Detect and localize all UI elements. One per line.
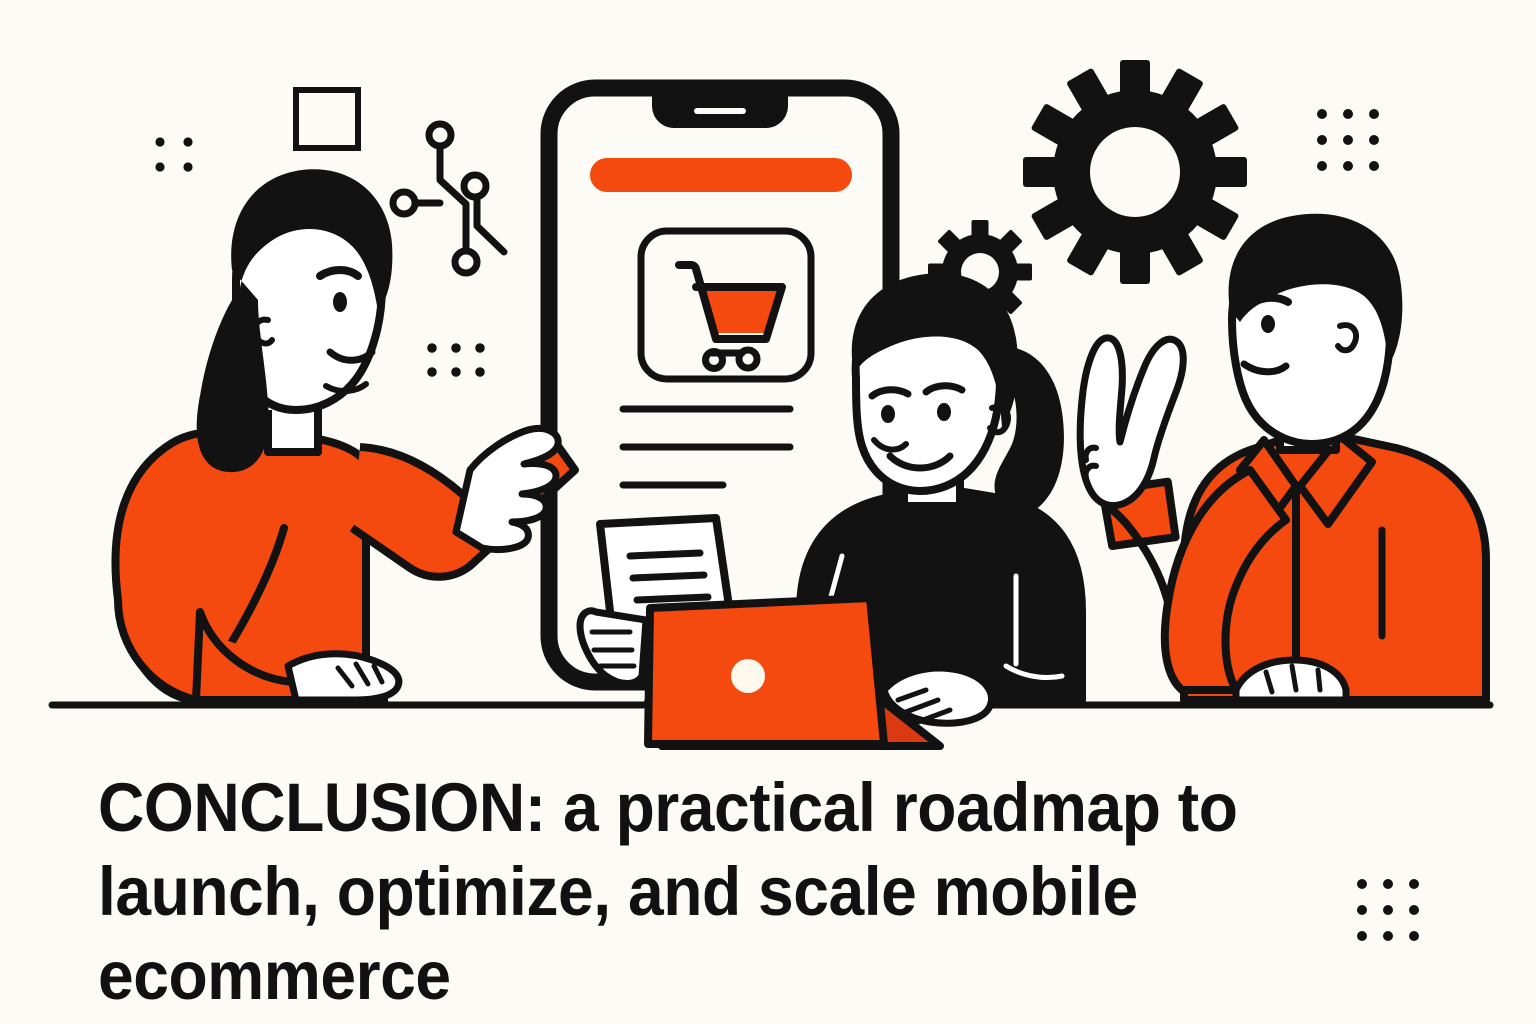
headline-lead: CONCLUSION: — [98, 769, 546, 846]
phone-search-bar — [590, 158, 852, 192]
illustration-page: CONCLUSION: a practical roadmap to launc… — [0, 0, 1536, 1024]
page-headline: CONCLUSION: a practical roadmap to launc… — [98, 766, 1261, 1018]
laptop-logo-dot — [731, 659, 765, 693]
